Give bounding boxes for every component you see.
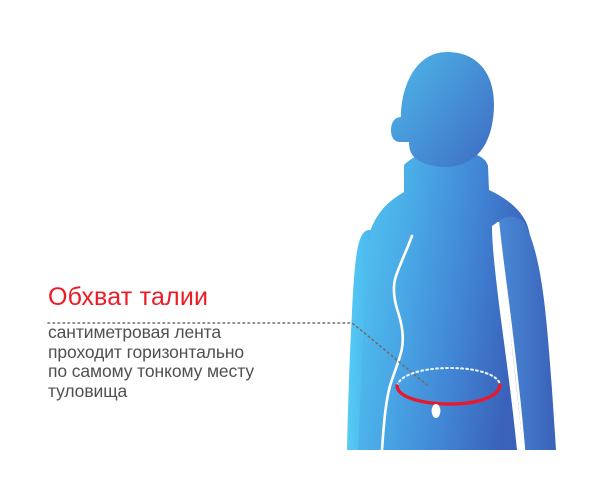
callout-body-line-1: сантиметровая лента (48, 323, 368, 343)
callout-title: Обхват талии (48, 282, 368, 312)
body-illustration (0, 0, 600, 491)
head (391, 52, 494, 167)
callout-body-line-3: по самому тонкому месту (48, 362, 368, 382)
callout-body: сантиметровая лента проходит горизонталь… (48, 323, 368, 401)
navel (432, 404, 441, 418)
illustration-page: Обхват талии сантиметровая лента проходи… (0, 0, 600, 491)
callout-body-line-2: проходит горизонтально (48, 343, 368, 363)
callout-body-line-4: туловища (48, 382, 368, 402)
callout-text-block: Обхват талии сантиметровая лента проходи… (48, 282, 368, 401)
